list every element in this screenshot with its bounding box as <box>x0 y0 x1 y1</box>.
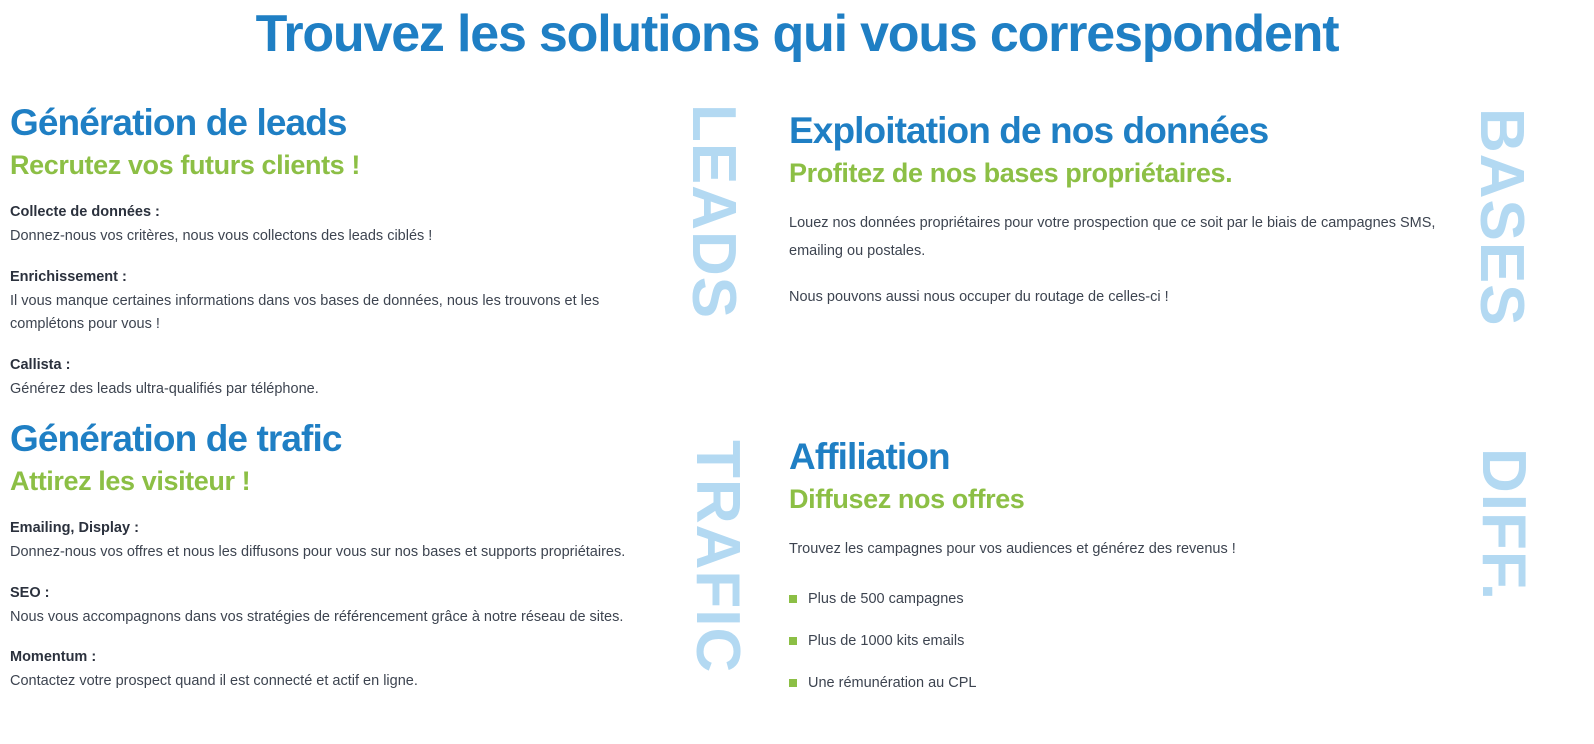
paragraph: Nous pouvons aussi nous occuper du routa… <box>789 283 1449 311</box>
section-subtitle-affiliation: Diffusez nos offres <box>789 481 1449 517</box>
section-generation-de-leads: Génération de leads Recrutez vos futurs … <box>10 100 670 418</box>
item-description: Donnez-nous vos critères, nous vous coll… <box>10 225 670 249</box>
paragraph: Trouvez les campagnes pour vos audiences… <box>789 535 1449 563</box>
section-affiliation: Affiliation Diffusez nos offres Trouvez … <box>789 434 1449 715</box>
affiliation-paragraphs: Trouvez les campagnes pour vos audiences… <box>789 535 1449 563</box>
item-term: Emailing, Display : <box>10 517 670 539</box>
list-item: Plus de 1000 kits emails <box>789 631 1449 651</box>
section-subtitle-bases: Profitez de nos bases propriétaires. <box>789 155 1449 191</box>
section-generation-de-trafic: Génération de trafic Attirez les visiteu… <box>10 416 670 711</box>
list-item: SEO : Nous vous accompagnons dans vos st… <box>10 582 670 630</box>
affiliation-bullet-list: Plus de 500 campagnes Plus de 1000 kits … <box>789 589 1449 693</box>
list-item: Momentum : Contactez votre prospect quan… <box>10 646 670 694</box>
list-item: Callista : Générez des leads ultra-quali… <box>10 354 670 402</box>
item-term: SEO : <box>10 582 670 604</box>
section-title-trafic: Génération de trafic <box>10 416 670 462</box>
list-item: Une rémunération au CPL <box>789 673 1449 693</box>
item-description: Il vous manque certaines informations da… <box>10 290 670 337</box>
section-subtitle-leads: Recrutez vos futurs clients ! <box>10 147 670 183</box>
paragraph: Louez nos données propriétaires pour vot… <box>789 209 1449 265</box>
watermark-bases: BASES <box>1470 108 1532 327</box>
page-title: Trouvez les solutions qui vous correspon… <box>0 2 1594 66</box>
list-item: Plus de 500 campagnes <box>789 589 1449 609</box>
item-description: Donnez-nous vos offres et nous les diffu… <box>10 541 670 565</box>
watermark-leads: LEADS <box>682 104 744 319</box>
bullet-label: Plus de 1000 kits emails <box>808 631 964 651</box>
section-exploitation-de-nos-donnees: Exploitation de nos données Profitez de … <box>789 108 1449 311</box>
section-title-bases: Exploitation de nos données <box>789 108 1449 154</box>
item-description: Contactez votre prospect quand il est co… <box>10 670 670 694</box>
list-item: Emailing, Display : Donnez-nous vos offr… <box>10 517 670 565</box>
square-bullet-icon <box>789 595 797 603</box>
bullet-label: Plus de 500 campagnes <box>808 589 964 609</box>
square-bullet-icon <box>789 637 797 645</box>
item-description: Nous vous accompagnons dans vos stratégi… <box>10 606 670 630</box>
section-title-affiliation: Affiliation <box>789 434 1449 480</box>
leads-item-list: Collecte de données : Donnez-nous vos cr… <box>10 201 670 401</box>
section-subtitle-trafic: Attirez les visiteur ! <box>10 463 670 499</box>
item-description: Générez des leads ultra-qualifiés par té… <box>10 378 670 402</box>
list-item: Collecte de données : Donnez-nous vos cr… <box>10 201 670 249</box>
square-bullet-icon <box>789 679 797 687</box>
bases-paragraphs: Louez nos données propriétaires pour vot… <box>789 209 1449 311</box>
item-term: Momentum : <box>10 646 670 668</box>
bullet-label: Une rémunération au CPL <box>808 673 976 693</box>
list-item: Enrichissement : Il vous manque certaine… <box>10 266 670 337</box>
item-term: Callista : <box>10 354 670 376</box>
section-title-leads: Génération de leads <box>10 100 670 146</box>
item-term: Enrichissement : <box>10 266 670 288</box>
watermark-diff: DIFF. <box>1472 448 1534 601</box>
watermark-trafic: TRAFIC <box>686 440 748 673</box>
trafic-item-list: Emailing, Display : Donnez-nous vos offr… <box>10 517 670 694</box>
item-term: Collecte de données : <box>10 201 670 223</box>
